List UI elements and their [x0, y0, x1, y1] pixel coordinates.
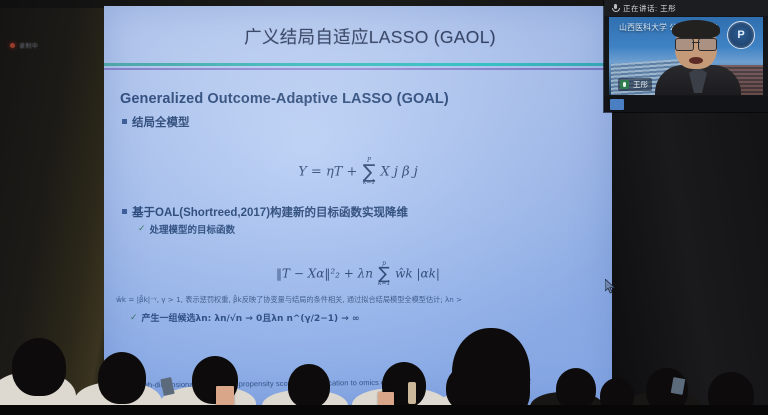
title-rule-purple [104, 68, 612, 70]
slide-bullet-2: 基于OAL(Shortreed,2017)构建新的目标函数实现降维 [122, 204, 408, 220]
slide-bullet-1: 结局全模型 [122, 114, 190, 130]
audience-head [452, 328, 530, 415]
slide-sub-bullet-2-label: 产生一组候选λn: λn/√n → 0且λn n^(γ/2−1) → ∞ [142, 311, 360, 324]
slide-bullet-1-label: 结局全模型 [132, 114, 190, 130]
foreground-floor [0, 405, 768, 415]
mic-active-icon [620, 80, 629, 89]
bullet-square-icon [122, 119, 127, 124]
slide-bullet-2-label: 基于OAL(Shortreed,2017)构建新的目标函数实现降维 [132, 204, 408, 220]
formula-2-rhs: ŵk |αk| [395, 267, 440, 281]
slide-content: 广义结局自适应LASSO (GAOL) Generalized Outcome-… [104, 6, 612, 406]
formula-1-lhs: Y = ηT + [298, 165, 357, 180]
slide-sub-bullet-2: ✓ 产生一组候选λn: λn/√n → 0且λn n^(γ/2−1) → ∞ [130, 311, 359, 324]
recording-indicator: 录制中 [10, 41, 38, 50]
participant-name-label: 王彤 [633, 79, 648, 90]
check-mark-icon: ✓ [130, 312, 138, 323]
slide-note-text: ŵk = |β̂k|⁻ᵞ, γ > 1, 表示惩罚权重, β̂k反映了协变量与结… [116, 295, 590, 304]
audience-head [556, 368, 596, 410]
record-dot-icon [10, 43, 15, 48]
audience-bottle [408, 382, 416, 404]
formula-1-rhs: X j β j [381, 165, 418, 180]
slide-formula-1: Y = ηT + P ∑ k=1 X j β j [104, 158, 612, 186]
audience-head [12, 338, 66, 396]
audience-head [98, 352, 146, 404]
slide-sub-bullet-1: ✓ 处理模型的目标函数 [138, 222, 235, 236]
formula-1-sum-lower: k=1 [363, 180, 375, 186]
speaker-hair [672, 20, 720, 39]
overlay-bottom-bar [604, 96, 768, 112]
sigma-glyph-icon: ∑ [378, 267, 389, 281]
video-conference-overlay[interactable]: 正在讲话: 王彤 山西医科大学 公共卫生学院 P 王彤 [604, 0, 768, 112]
recording-label: 录制中 [19, 41, 38, 50]
speaker-webcam-figure [661, 21, 735, 95]
overlay-speaking-label: 正在讲话: 王彤 [623, 3, 676, 14]
sigma-glyph-icon: ∑ [363, 164, 376, 180]
projection-screen: 广义结局自适应LASSO (GAOL) Generalized Outcome-… [104, 6, 612, 406]
mouse-pointer-icon [605, 279, 616, 294]
audience-placard [216, 386, 234, 406]
participant-name-badge: 王彤 [618, 78, 652, 91]
slide-formula-2: ‖T − Xα‖²₂ + λn p ∑ k=1 ŵk |αk| [104, 261, 612, 287]
microphone-icon [612, 4, 618, 13]
slide-sub-bullet-1-label: 处理模型的目标函数 [150, 222, 236, 236]
eyeglasses-icon [675, 38, 717, 49]
title-rule-teal [104, 63, 612, 66]
summation-symbol-2: p ∑ k=1 [378, 261, 390, 287]
summation-symbol-1: P ∑ k=1 [363, 158, 376, 186]
bullet-square-icon [122, 209, 127, 214]
formula-2-sum-lower: k=1 [378, 281, 390, 287]
overlay-thumbnail-chip[interactable] [610, 99, 624, 110]
formula-2-lhs: ‖T − Xα‖²₂ + λn [276, 267, 373, 281]
overlay-speaking-bar: 正在讲话: 王彤 [604, 0, 768, 16]
screenshot-stage: 录制中 广义结局自适应LASSO (GAOL) Generalized Outc… [0, 0, 768, 415]
slide-heading-english: Generalized Outcome-Adaptive LASSO (GOAL… [120, 91, 449, 107]
overlay-video-frame[interactable]: 山西医科大学 公共卫生学院 P 王彤 [609, 17, 763, 95]
speaker-mouth [689, 57, 703, 64]
check-mark-icon: ✓ [138, 223, 146, 234]
audience-head [288, 364, 330, 408]
slide-title: 广义结局自适应LASSO (GAOL) [200, 24, 540, 49]
